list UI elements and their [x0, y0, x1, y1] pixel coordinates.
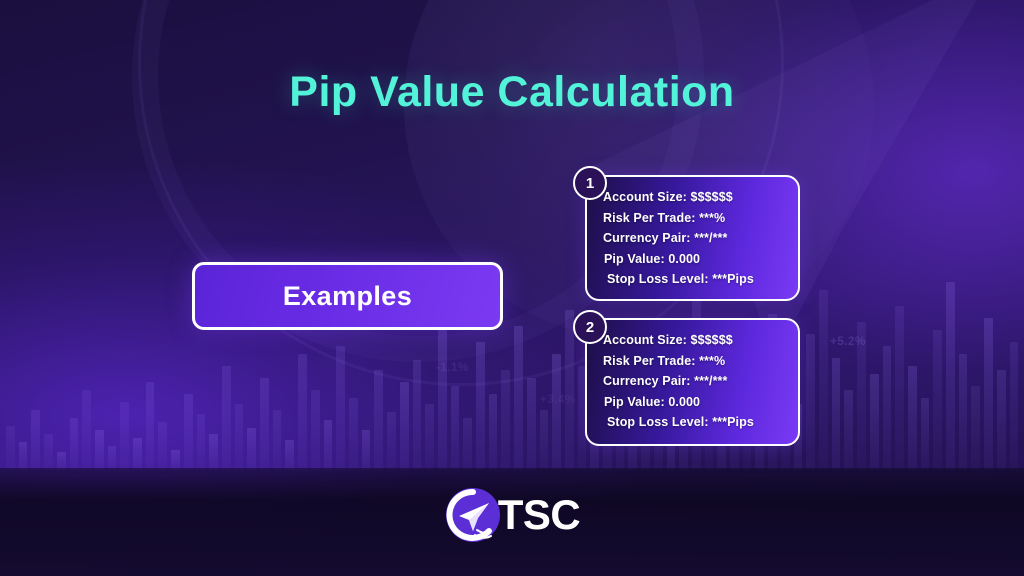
- background-bar: [19, 442, 28, 470]
- info-card-2[interactable]: Account Size: $$$$$$ Risk Per Trade: ***…: [585, 318, 800, 446]
- background-bar: [374, 370, 383, 470]
- examples-button-label: Examples: [283, 281, 412, 312]
- background-bar: [946, 282, 955, 470]
- background-bar: [184, 394, 193, 470]
- background-bar: [857, 322, 866, 470]
- background-bar: [870, 374, 879, 470]
- card-2-line-pip-value: Pip Value: 0.000: [603, 392, 786, 413]
- card-1-line-currency-pair: Currency Pair: ***/***: [603, 228, 786, 249]
- background-bar: [70, 418, 79, 470]
- background-bar: [565, 310, 574, 470]
- background-bar: [832, 358, 841, 470]
- background-bar: [971, 386, 980, 470]
- background-bar: [387, 412, 396, 470]
- background-bar: [247, 428, 256, 470]
- background-bar: [552, 354, 561, 470]
- background-bar-chart: [0, 270, 1024, 470]
- background-bar: [197, 414, 206, 470]
- background-label-3: +3.4%: [540, 392, 576, 406]
- background-bar: [984, 318, 993, 470]
- brand-logo-text: TSC: [498, 491, 581, 539]
- background-bar: [82, 390, 91, 470]
- card-2-line-stop-loss-level: Stop Loss Level: ***Pips: [603, 412, 786, 433]
- background-bar: [158, 422, 167, 470]
- background-bar: [311, 390, 320, 470]
- background-bar: [438, 330, 447, 470]
- background-bar: [425, 404, 434, 470]
- info-card-1[interactable]: Account Size: $$$$$$ Risk Per Trade: ***…: [585, 175, 800, 301]
- background-bar: [285, 440, 294, 470]
- card-1-line-stop-loss-level: Stop Loss Level: ***Pips: [603, 269, 786, 290]
- background-bar: [933, 330, 942, 470]
- card-badge-2: 2: [573, 310, 607, 344]
- slide-canvas: +5.2% -1.1% +3.4% Pip Value Calculation …: [0, 0, 1024, 576]
- background-bar: [44, 434, 53, 470]
- background-bar: [514, 326, 523, 470]
- background-bar: [95, 430, 104, 470]
- background-bar: [451, 386, 460, 470]
- background-bar: [31, 410, 40, 470]
- background-bar: [806, 334, 815, 470]
- background-bar: [133, 438, 142, 470]
- card-1-line-risk-per-trade: Risk Per Trade: ***%: [603, 208, 786, 229]
- background-bar: [235, 404, 244, 470]
- background-bar: [501, 370, 510, 470]
- background-bar: [400, 382, 409, 470]
- card-2-line-risk-per-trade: Risk Per Trade: ***%: [603, 351, 786, 372]
- paper-plane-circle-icon: [444, 486, 502, 544]
- background-bar: [349, 398, 358, 470]
- background-bar: [959, 354, 968, 470]
- background-bar: [273, 410, 282, 470]
- card-badge-1: 1: [573, 166, 607, 200]
- background-label-2: -1.1%: [436, 360, 469, 374]
- background-bar: [260, 378, 269, 470]
- background-bar: [336, 346, 345, 470]
- background-bar: [921, 398, 930, 470]
- background-bar: [209, 434, 218, 470]
- background-bar: [6, 426, 15, 470]
- background-bar: [997, 370, 1006, 470]
- examples-button[interactable]: Examples: [192, 262, 503, 330]
- background-bar: [463, 418, 472, 470]
- background-bar: [324, 420, 333, 470]
- background-bar: [489, 394, 498, 470]
- background-bar: [527, 378, 536, 470]
- background-bar: [413, 360, 422, 470]
- background-bar: [298, 354, 307, 470]
- card-1-line-account-size: Account Size: $$$$$$: [603, 187, 786, 208]
- background-bar: [476, 342, 485, 470]
- background-bar: [222, 366, 231, 470]
- background-bar: [171, 450, 180, 470]
- background-bar: [908, 366, 917, 470]
- background-bar: [895, 306, 904, 470]
- background-bar: [108, 446, 117, 470]
- background-bar: [146, 382, 155, 470]
- card-2-line-currency-pair: Currency Pair: ***/***: [603, 371, 786, 392]
- background-bar: [844, 390, 853, 470]
- brand-logo: TSC: [0, 486, 1024, 544]
- background-bar: [819, 290, 828, 470]
- background-bar: [362, 430, 371, 470]
- card-1-line-pip-value: Pip Value: 0.000: [603, 249, 786, 270]
- background-bar: [883, 346, 892, 470]
- background-bar: [540, 410, 549, 470]
- background-bar: [1010, 342, 1019, 470]
- card-2-line-account-size: Account Size: $$$$$$: [603, 330, 786, 351]
- page-title: Pip Value Calculation: [0, 68, 1024, 117]
- background-label-1: +5.2%: [830, 334, 866, 348]
- background-bar: [120, 402, 129, 470]
- background-bar: [57, 452, 66, 470]
